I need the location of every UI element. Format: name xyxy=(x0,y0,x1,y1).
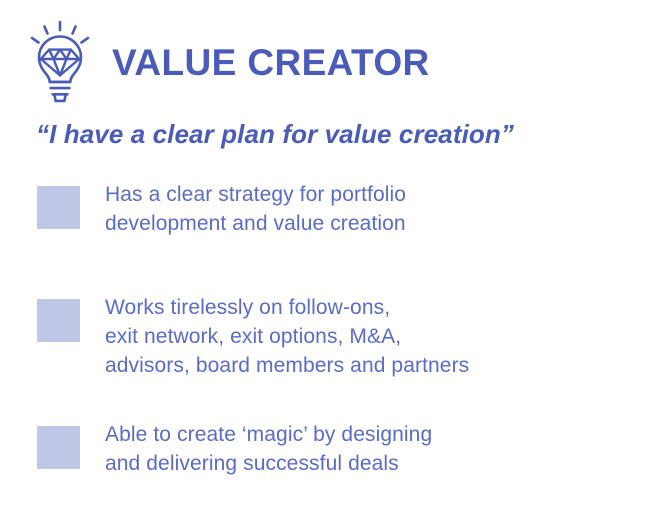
bullet-square-icon xyxy=(37,186,80,229)
page-title: VALUE CREATOR xyxy=(112,44,430,81)
bullet-square-icon xyxy=(37,299,80,342)
spacer xyxy=(0,380,647,418)
list-item: Able to create ‘magic’ by designing and … xyxy=(0,418,647,478)
list-item: Works tirelessly on follow-ons, exit net… xyxy=(0,291,647,380)
bullet-text: Has a clear strategy for portfolio devel… xyxy=(105,178,406,238)
list-item: Has a clear strategy for portfolio devel… xyxy=(0,178,647,238)
bullet-text: Works tirelessly on follow-ons, exit net… xyxy=(105,291,469,380)
lightbulb-diamond-icon xyxy=(22,19,98,105)
bullet-square-icon xyxy=(37,426,80,469)
bullet-list: Has a clear strategy for portfolio devel… xyxy=(0,178,647,478)
slide-quote: “I have a clear plan for value creation” xyxy=(36,119,514,150)
slide-header: VALUE CREATOR xyxy=(22,16,622,108)
spacer xyxy=(0,238,647,291)
bullet-text: Able to create ‘magic’ by designing and … xyxy=(105,418,432,478)
slide-canvas: VALUE CREATOR “I have a clear plan for v… xyxy=(0,0,647,515)
